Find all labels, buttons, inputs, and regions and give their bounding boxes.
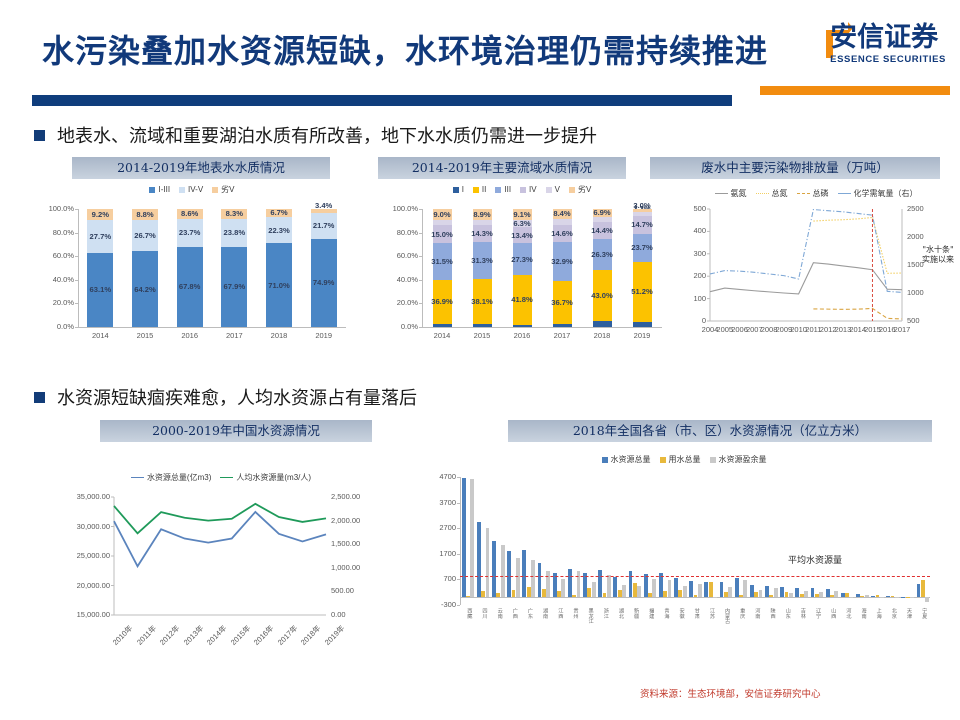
reference-line-label: 平均水资源量	[760, 556, 870, 567]
bar	[754, 592, 758, 597]
x-tick-label: 2014	[420, 331, 464, 340]
legend-label: 水资源总量(亿m3)	[147, 472, 211, 483]
x-tick-label: 北京	[891, 608, 896, 618]
legend-swatch-icon	[602, 457, 608, 463]
legend-line-icon	[838, 193, 851, 194]
x-tick-label: 海南	[860, 608, 865, 618]
y-tick-label: 0.0%	[376, 322, 418, 331]
legend-label: 水资源盈余量	[719, 454, 767, 465]
y-tick	[75, 233, 78, 234]
legend-label: 劣V	[578, 184, 591, 195]
y-tick-label: 40.0%	[32, 275, 74, 284]
y-axis	[422, 209, 423, 327]
bar	[527, 587, 531, 597]
y-tick-label: 60.0%	[32, 251, 74, 260]
bar	[507, 551, 511, 597]
bar	[906, 597, 910, 598]
legend-swatch-icon	[179, 187, 185, 193]
bar	[739, 595, 743, 597]
bar-segment: 8.6%	[177, 209, 203, 219]
x-tick-label: 2017	[540, 331, 584, 340]
legend-line-icon	[797, 193, 810, 194]
bar-segment: 51.2%	[633, 262, 652, 322]
x-tick-label: 山西	[830, 608, 835, 618]
zero-line	[460, 597, 930, 598]
chart-major-basin-water-quality: IIIIIIIVV劣V 0.0%20.0%40.0%60.0%80.0%100.…	[372, 182, 672, 360]
bar-segment: 32.9%	[553, 242, 572, 281]
chart-3-plot: 0100200300400500500100015002000250020042…	[676, 199, 956, 355]
bar-segment: 13.4%	[513, 227, 532, 243]
bar	[648, 593, 652, 598]
reference-line	[460, 576, 930, 577]
x-axis	[422, 327, 662, 328]
x-tick-label: 2016	[500, 331, 544, 340]
bar-segment: 36.7%	[553, 281, 572, 324]
bar	[622, 585, 626, 597]
bar	[728, 587, 732, 597]
x-tick-label: 吉林	[800, 608, 805, 618]
y-tick-label: 20.0%	[32, 298, 74, 307]
bar	[795, 588, 799, 597]
y-tick	[457, 554, 460, 555]
chart-2-plot: 0.0%20.0%40.0%60.0%80.0%100.0%20142.8%36…	[372, 195, 672, 353]
x-tick-label: 2015	[123, 331, 167, 340]
y-tick-label: 100.0%	[376, 204, 418, 213]
bar-segment: 23.7%	[177, 219, 203, 247]
bar	[780, 587, 784, 597]
legend-item: III	[495, 185, 511, 194]
bar-segment: 27.7%	[87, 220, 113, 253]
x-tick-label: 青海	[663, 608, 668, 618]
bar	[568, 569, 572, 597]
brand-logo: 安信证券 ESSENCE SECURITIES	[830, 24, 946, 65]
y-tick	[457, 528, 460, 529]
bullet-1-text: 地表水、流域和重要湖泊水质有所改善，地下水水质仍需进一步提升	[57, 122, 597, 148]
bar	[603, 593, 607, 598]
bar	[522, 550, 526, 597]
bar-segment: 22.3%	[266, 217, 292, 243]
bar	[683, 586, 687, 598]
x-tick-label: 河南	[754, 608, 759, 618]
legend-label: 用水总量	[669, 454, 701, 465]
bar	[895, 597, 899, 598]
bar	[470, 479, 474, 597]
legend-line-icon	[220, 477, 233, 478]
bar	[830, 595, 834, 597]
bar	[850, 597, 854, 598]
bar-segment: 14.6%	[553, 225, 572, 242]
bar	[910, 597, 914, 598]
chart-1-plot: 0.0%20.0%40.0%60.0%80.0%100.0%201463.1%2…	[22, 195, 362, 353]
x-tick-label: 甘肃	[694, 608, 699, 618]
x-tick-label: 2018	[257, 331, 301, 340]
legend-item: 水资源总量(亿m3)	[131, 472, 211, 483]
chart-3-legend: 氨氮总氮总磷化学需氧量（右）	[676, 188, 956, 199]
legend-item: 水资源总量	[602, 454, 651, 465]
bar	[826, 589, 830, 597]
bar-segment: 31.3%	[473, 242, 492, 279]
x-tick-label: 黑龙江	[587, 608, 592, 624]
y-tick-label: 3700	[420, 498, 456, 507]
bar	[637, 586, 641, 597]
bar	[674, 578, 678, 597]
series-line	[710, 263, 902, 294]
bar	[917, 584, 921, 597]
legend-item: 水资源盈余量	[710, 454, 767, 465]
bar	[542, 589, 546, 597]
bar	[516, 558, 520, 597]
legend-item: I-III	[149, 185, 170, 194]
bar	[531, 560, 535, 597]
bar-segment: 71.0%	[266, 243, 292, 327]
bar-segment: 41.8%	[513, 275, 532, 324]
bar	[921, 580, 925, 598]
bar	[876, 595, 880, 598]
bar-segment: 43.0%	[593, 270, 612, 321]
x-tick-label: 广东	[527, 608, 532, 618]
bar-segment: 63.1%	[87, 253, 113, 327]
bar	[607, 575, 611, 598]
bar	[698, 584, 702, 597]
bar	[668, 580, 672, 597]
x-tick-label: 辽宁	[815, 608, 820, 618]
x-tick-label: 重庆	[739, 608, 744, 618]
bar	[743, 580, 747, 598]
chart-provincial-water-resources: 水资源总量用水总量水资源盈余量 -3007001700270037004700西…	[412, 452, 956, 662]
bar	[785, 592, 789, 598]
bar	[538, 563, 542, 598]
legend-label: III	[504, 185, 511, 194]
y-tick	[457, 579, 460, 580]
legend-swatch-icon	[212, 187, 218, 193]
x-tick-label: 浙江	[603, 608, 608, 618]
series-line	[813, 218, 902, 274]
y-tick-label: 80.0%	[32, 228, 74, 237]
bar-segment: 36.9%	[433, 280, 452, 324]
chart-5-legend: 水资源总量用水总量水资源盈余量	[412, 454, 956, 465]
legend-swatch-icon	[569, 187, 575, 193]
bar	[815, 594, 819, 597]
bar-segment: 8.3%	[221, 209, 247, 219]
y-tick-label: 4700	[420, 472, 456, 481]
bar-segment: 67.8%	[177, 247, 203, 327]
x-tick-label: 江苏	[709, 608, 714, 618]
y-tick-label: 0.0%	[32, 322, 74, 331]
chart-4-legend: 水资源总量(亿m3)人均水资源量(m3/人)	[40, 472, 402, 483]
bar	[512, 590, 516, 597]
x-axis	[78, 327, 346, 328]
y-tick	[75, 256, 78, 257]
x-tick-label: 安徽	[678, 608, 683, 618]
legend-swatch-icon	[710, 457, 716, 463]
bar	[769, 595, 773, 597]
x-tick-label: 湖南	[542, 608, 547, 618]
legend-swatch-icon	[453, 187, 459, 193]
bar-segment: 9.2%	[87, 209, 113, 220]
bar	[880, 597, 884, 598]
legend-item: 总磷	[797, 188, 829, 199]
brand-name-en: ESSENCE SECURITIES	[830, 54, 946, 65]
y-tick	[75, 280, 78, 281]
series-line	[114, 504, 326, 534]
bar	[845, 593, 849, 598]
y-tick-label: 40.0%	[376, 275, 418, 284]
bar-segment: 6.9%	[593, 209, 612, 217]
chart-surface-water-quality: I-IIIIV-V劣V 0.0%20.0%40.0%60.0%80.0%100.…	[22, 182, 362, 360]
bullet-square-icon	[34, 130, 45, 141]
y-tick	[457, 605, 460, 606]
bar	[891, 596, 895, 597]
legend-item: V	[546, 185, 560, 194]
legend-label: 人均水资源量(m3/人)	[236, 472, 311, 483]
bar	[618, 590, 622, 598]
legend-swatch-icon	[149, 187, 155, 193]
y-tick	[419, 327, 422, 328]
bar	[633, 583, 637, 598]
bar	[709, 582, 713, 597]
x-tick-label: 四川	[481, 608, 486, 618]
legend-item: 总氮	[756, 188, 788, 199]
x-tick-label: 山东	[785, 608, 790, 618]
bar	[678, 590, 682, 597]
bar	[466, 596, 470, 597]
legend-label: I	[462, 185, 464, 194]
legend-item: 氨氮	[715, 188, 747, 199]
bar-segment: 8.8%	[132, 209, 158, 219]
bar	[800, 594, 804, 597]
bar	[694, 595, 698, 598]
series-line	[813, 308, 902, 319]
bar	[759, 590, 763, 598]
x-tick-label: 宁夏	[921, 608, 926, 618]
bar	[501, 545, 505, 597]
legend-item: IV-V	[179, 185, 203, 194]
bar	[587, 588, 591, 597]
bar-segment: 9.0%	[433, 209, 452, 220]
legend-line-icon	[715, 193, 728, 194]
title-underline-orange	[760, 86, 950, 95]
x-tick-label: 内蒙古	[724, 608, 729, 624]
bar	[598, 570, 602, 597]
legend-line-icon	[131, 477, 144, 478]
y-tick-label: 1700	[420, 549, 456, 558]
legend-item: 用水总量	[660, 454, 701, 465]
bar	[689, 581, 693, 597]
bar-segment: 27.3%	[513, 243, 532, 275]
y-tick	[419, 233, 422, 234]
legend-label: 氨氮	[731, 188, 747, 199]
bar-segment: 15.0%	[433, 225, 452, 243]
y-tick	[419, 209, 422, 210]
y-tick-label: 20.0%	[376, 298, 418, 307]
bar	[789, 593, 793, 597]
bar	[704, 582, 708, 598]
bar	[901, 597, 905, 598]
legend-item: 劣V	[569, 184, 591, 195]
bar	[765, 586, 769, 598]
bar-segment: 9.1%	[513, 209, 532, 220]
chart-4-plot: 15,000.0020,000.0025,000.0030,000.0035,0…	[40, 483, 402, 661]
legend-swatch-icon	[660, 457, 666, 463]
legend-swatch-icon	[495, 187, 501, 193]
x-tick-label: 2015	[460, 331, 504, 340]
x-tick-label: 贵州	[572, 608, 577, 618]
bar	[871, 596, 875, 598]
legend-item: II	[473, 185, 486, 194]
x-tick-label: 新疆	[633, 608, 638, 618]
bar-segment: 14.3%	[473, 225, 492, 242]
bar	[561, 579, 565, 597]
legend-item: 化学需氧量（右）	[838, 188, 918, 199]
bar-segment: 67.9%	[221, 247, 247, 327]
x-tick-label: 福建	[648, 608, 653, 618]
bar	[865, 595, 869, 597]
legend-label: 化学需氧量（右）	[854, 188, 918, 199]
legend-label: II	[482, 185, 486, 194]
bar-segment: 14.4%	[593, 222, 612, 239]
bar	[886, 596, 890, 597]
chart-wastewater-pollutants: 氨氮总氮总磷化学需氧量（右） 0100200300400500500100015…	[676, 186, 956, 362]
bar-segment: 26.7%	[132, 220, 158, 252]
y-tick	[75, 209, 78, 210]
x-tick-label: 陕西	[769, 608, 774, 618]
legend-label: 总磷	[813, 188, 829, 199]
bar	[750, 585, 754, 598]
bar	[557, 591, 561, 597]
bar-segment: 6.3%	[513, 220, 532, 227]
x-tick-label: 2019	[302, 331, 346, 340]
bar	[572, 595, 576, 598]
plot4-svg	[40, 483, 402, 655]
bullet-point-2: 水资源短缺痼疾难愈，人均水资源占有量落后	[34, 384, 417, 410]
bar-segment: 31.5%	[433, 243, 452, 280]
bar	[735, 578, 739, 598]
bar-segment: 14.7%	[633, 216, 652, 233]
y-tick	[419, 256, 422, 257]
legend-label: 水资源总量	[611, 454, 651, 465]
bullet-point-1: 地表水、流域和重要湖泊水质有所改善，地下水水质仍需进一步提升	[34, 122, 597, 148]
bar	[546, 571, 550, 597]
y-tick-label: -300	[420, 600, 456, 609]
y-tick	[419, 303, 422, 304]
bar	[477, 522, 481, 598]
y-tick-label: 700	[420, 574, 456, 583]
bullet-square-icon	[34, 392, 45, 403]
bar-segment: 23.8%	[221, 219, 247, 247]
y-axis	[78, 209, 79, 327]
bar	[486, 528, 490, 597]
x-tick-label: 2016	[168, 331, 212, 340]
bar	[592, 582, 596, 597]
bar-segment: 23.7%	[633, 234, 652, 262]
chart-3-annotation: "水十条"实施以来	[912, 245, 960, 265]
bar	[819, 592, 823, 598]
y-tick-label: 80.0%	[376, 228, 418, 237]
x-tick-label: 2019	[620, 331, 664, 340]
legend-swatch-icon	[473, 187, 479, 193]
bar	[492, 541, 496, 598]
y-tick-label: 2700	[420, 523, 456, 532]
bar	[652, 579, 656, 598]
bar	[834, 591, 838, 597]
x-tick-label: 2018	[580, 331, 624, 340]
bullet-2-text: 水资源短缺痼疾难愈，人均水资源占有量落后	[57, 384, 417, 410]
bar-segment: 26.3%	[593, 239, 612, 270]
legend-item: 人均水资源量(m3/人)	[220, 472, 311, 483]
bar-segment: 21.7%	[311, 213, 337, 239]
bar-segment: 38.1%	[473, 279, 492, 324]
y-tick	[457, 503, 460, 504]
bar-segment: 74.9%	[311, 239, 337, 327]
page-title: 水污染叠加水资源短缺，水环境治理仍需持续推进	[42, 26, 768, 72]
y-tick-label: 100.0%	[32, 204, 74, 213]
bar	[841, 593, 845, 597]
chart-5-plot: -3007001700270037004700西藏四川云南广西广东湖南江西贵州黑…	[412, 465, 956, 657]
bar	[724, 592, 728, 597]
x-tick-label: 西藏	[466, 608, 471, 618]
legend-swatch-icon	[520, 187, 526, 193]
legend-label: IV	[529, 185, 537, 194]
bar	[811, 588, 815, 597]
bar-segment-label: 3.4%	[305, 201, 343, 210]
bar	[856, 594, 860, 597]
bar	[613, 577, 617, 597]
x-tick-label: 天津	[906, 608, 911, 618]
x-tick-label: 江西	[557, 608, 562, 618]
legend-label: IV-V	[188, 185, 203, 194]
bar	[713, 597, 717, 598]
legend-label: I-III	[158, 185, 170, 194]
caption-chart-4: 2000-2019年中国水资源情况	[100, 420, 372, 442]
bar-segment: 6.7%	[266, 209, 292, 217]
legend-swatch-icon	[546, 187, 552, 193]
legend-line-icon	[756, 193, 769, 194]
legend-item: 劣V	[212, 184, 234, 195]
bar	[663, 591, 667, 598]
source-note: 资料来源：生态环境部，安信证券研究中心	[640, 686, 821, 700]
y-tick-label: 60.0%	[376, 251, 418, 260]
legend-item: I	[453, 185, 464, 194]
bar	[462, 478, 466, 597]
legend-label: 总氮	[772, 188, 788, 199]
caption-chart-5: 2018年全国各省（市、区）水资源情况（亿立方米）	[508, 420, 932, 442]
legend-label: V	[555, 185, 560, 194]
chart-china-water-resources: 水资源总量(亿m3)人均水资源量(m3/人) 15,000.0020,000.0…	[40, 462, 402, 662]
chart-1-legend: I-IIIIV-V劣V	[22, 184, 362, 195]
caption-chart-1: 2014-2019年地表水水质情况	[72, 157, 330, 179]
plot3-svg	[676, 199, 956, 361]
bar-segment: 64.2%	[132, 251, 158, 327]
bar	[804, 591, 808, 597]
brand-name-cn: 安信证券	[830, 24, 946, 51]
bar	[481, 591, 485, 597]
x-tick-label: 上海	[876, 608, 881, 618]
y-tick	[75, 303, 78, 304]
y-tick	[457, 477, 460, 478]
bar-segment: 8.4%	[553, 209, 572, 219]
x-tick-label: 2014	[78, 331, 122, 340]
bar	[925, 597, 929, 601]
legend-item: IV	[520, 185, 537, 194]
bar	[860, 596, 864, 597]
caption-chart-2: 2014-2019年主要流域水质情况	[378, 157, 626, 179]
caption-chart-3: 废水中主要污染物排放量（万吨）	[650, 157, 940, 179]
legend-label: 劣V	[221, 184, 234, 195]
bar	[496, 593, 500, 597]
x-tick-label: 云南	[496, 608, 501, 618]
y-tick	[75, 327, 78, 328]
y-tick	[419, 280, 422, 281]
